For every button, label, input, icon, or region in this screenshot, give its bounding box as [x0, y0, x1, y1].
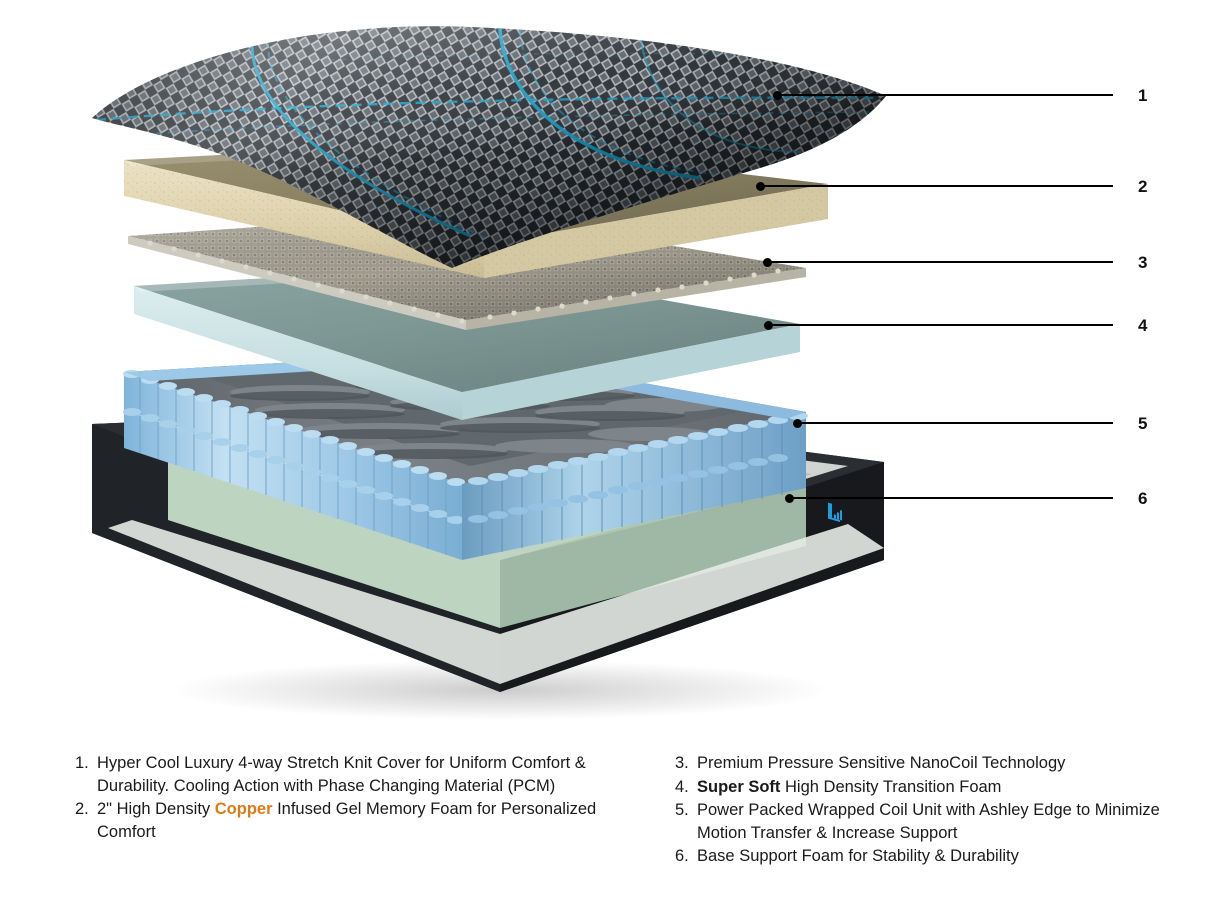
legend-text-segment: 2" High Density	[97, 800, 215, 818]
legend-item: 1.Hyper Cool Luxury 4-way Stretch Knit C…	[75, 752, 655, 797]
callout-number-4: 4	[1138, 317, 1147, 334]
legend-item-text: Hyper Cool Luxury 4-way Stretch Knit Cov…	[97, 752, 655, 797]
callout-line-3	[767, 261, 1113, 263]
layers-svg	[0, 0, 1214, 740]
callout-number-6: 6	[1138, 490, 1147, 507]
legend-text-segment: Hyper Cool Luxury 4-way Stretch Knit Cov…	[97, 754, 586, 795]
callout-line-4	[768, 324, 1113, 326]
legend-column-right: 3.Premium Pressure Sensitive NanoCoil Te…	[675, 752, 1195, 869]
legend-item: 2.2" High Density Copper Infused Gel Mem…	[75, 798, 655, 843]
legend-item-text: Power Packed Wrapped Coil Unit with Ashl…	[697, 799, 1195, 844]
legend-text-segment: Super Soft	[697, 778, 780, 796]
callout-number-2: 2	[1138, 178, 1147, 195]
legend-column-left: 1.Hyper Cool Luxury 4-way Stretch Knit C…	[75, 752, 655, 844]
legend-text-segment: Power Packed Wrapped Coil Unit with Ashl…	[697, 801, 1160, 842]
legend-item-text: Base Support Foam for Stability & Durabi…	[697, 845, 1195, 868]
legend-text-segment: High Density Transition Foam	[780, 778, 1001, 796]
legend-item: 4.Super Soft High Density Transition Foa…	[675, 776, 1195, 799]
legend-text-segment: Copper	[215, 800, 273, 818]
callout-line-6	[789, 497, 1113, 499]
legend-text-segment: Base Support Foam for Stability & Durabi…	[697, 847, 1019, 865]
legend-item-text: Premium Pressure Sensitive NanoCoil Tech…	[697, 752, 1195, 775]
callout-number-3: 3	[1138, 254, 1147, 271]
callout-line-2	[760, 185, 1113, 187]
legend-item-number: 4.	[675, 776, 697, 799]
callout-line-5	[797, 422, 1113, 424]
legend-text-segment: Premium Pressure Sensitive NanoCoil Tech…	[697, 754, 1065, 772]
callout-number-1: 1	[1138, 87, 1147, 104]
callout-number-5: 5	[1138, 415, 1147, 432]
legend-item-number: 3.	[675, 752, 697, 775]
legend-item-number: 1.	[75, 752, 97, 775]
legend-item-number: 6.	[675, 845, 697, 868]
legend: 1.Hyper Cool Luxury 4-way Stretch Knit C…	[0, 752, 1214, 910]
legend-item: 3.Premium Pressure Sensitive NanoCoil Te…	[675, 752, 1195, 775]
legend-item-text: 2" High Density Copper Infused Gel Memor…	[97, 798, 655, 843]
legend-item-number: 2.	[75, 798, 97, 821]
legend-item-number: 5.	[675, 799, 697, 822]
exploded-layer-illustration: 1 2 3 4 5 6	[0, 0, 1214, 740]
legend-item: 6.Base Support Foam for Stability & Dura…	[675, 845, 1195, 868]
callout-line-1	[777, 94, 1113, 96]
mattress-construction-diagram: 1 2 3 4 5 6 1.Hyper Cool Luxury	[0, 0, 1214, 910]
legend-item-text: Super Soft High Density Transition Foam	[697, 776, 1195, 799]
legend-item: 5.Power Packed Wrapped Coil Unit with As…	[675, 799, 1195, 844]
